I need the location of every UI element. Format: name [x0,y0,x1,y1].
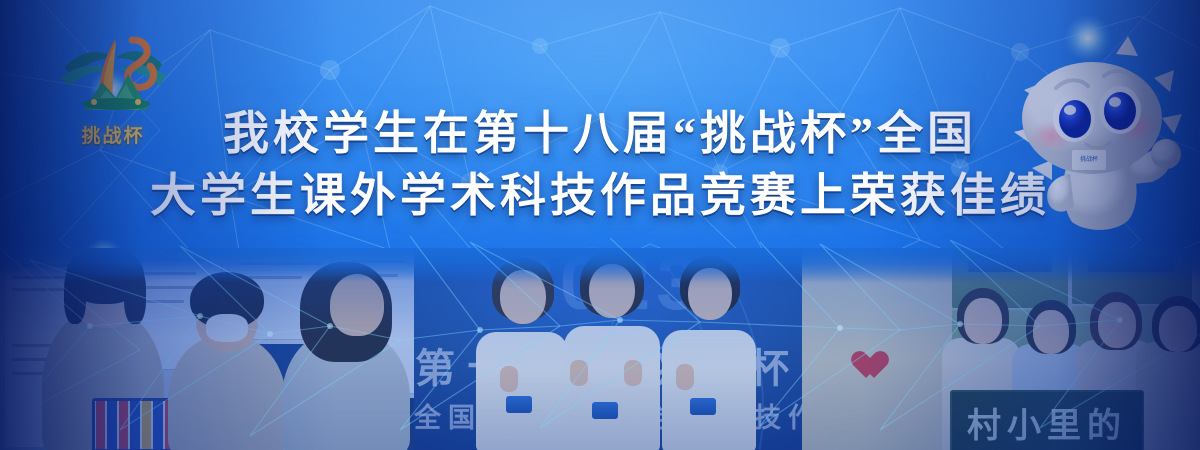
news-banner: 2023 第十八届 挑战杯 全国大学生课外学术科技作品竞赛 [0,0,1200,450]
edge-vignette [0,0,1200,450]
